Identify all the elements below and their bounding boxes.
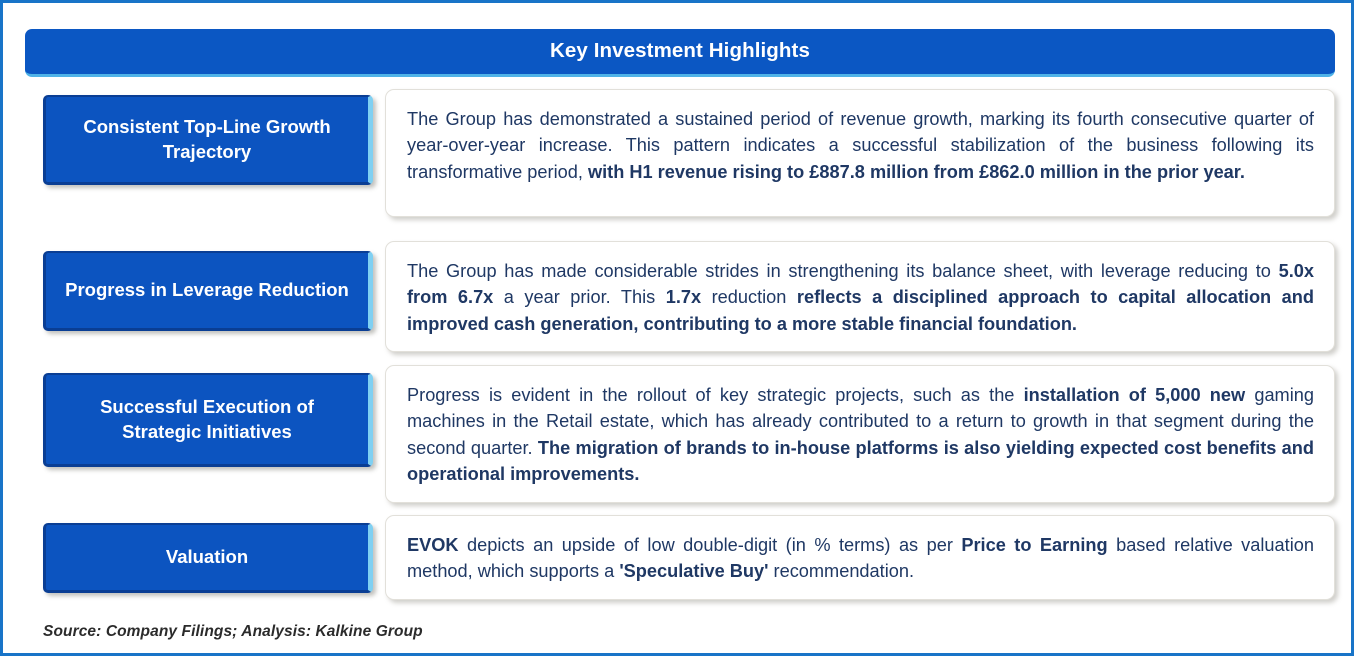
highlight-label-text: Valuation bbox=[166, 545, 248, 569]
highlight-label-text: Successful Execution of Strategic Initia… bbox=[58, 395, 356, 444]
header-banner: Key Investment Highlights bbox=[25, 29, 1335, 77]
body-run-regular: recommendation. bbox=[768, 561, 914, 581]
slide-container: Key Investment Highlights Consistent Top… bbox=[0, 0, 1354, 656]
highlight-row: Successful Execution of Strategic Initia… bbox=[3, 365, 1354, 493]
highlight-label-chip[interactable]: Consistent Top-Line Growth Trajectory bbox=[43, 95, 373, 185]
highlight-body-text: The Group has demonstrated a sustained p… bbox=[407, 106, 1314, 185]
body-run-bold: Price to Earning bbox=[961, 535, 1107, 555]
body-run-regular: depicts an upside of low double-digit (i… bbox=[459, 535, 962, 555]
highlight-label-text: Progress in Leverage Reduction bbox=[65, 278, 349, 302]
body-run-bold: 'Speculative Buy' bbox=[619, 561, 768, 581]
body-run-bold: The migration of brands to in-house plat… bbox=[407, 438, 1314, 484]
body-run-bold: with H1 revenue rising to £887.8 million… bbox=[588, 162, 1245, 182]
highlight-row: Consistent Top-Line Growth TrajectoryThe… bbox=[3, 89, 1354, 217]
source-note: Source: Company Filings; Analysis: Kalki… bbox=[43, 623, 423, 641]
highlight-text-card: Progress is evident in the rollout of ke… bbox=[385, 365, 1335, 503]
highlight-row: Progress in Leverage ReductionThe Group … bbox=[3, 241, 1354, 351]
body-run-regular: The Group has made considerable strides … bbox=[407, 261, 1279, 281]
body-run-bold: installation of 5,000 new bbox=[1024, 385, 1246, 405]
highlight-label-chip[interactable]: Progress in Leverage Reduction bbox=[43, 251, 373, 331]
page-title: Key Investment Highlights bbox=[550, 41, 810, 62]
highlight-text-card: EVOK depicts an upside of low double-dig… bbox=[385, 515, 1335, 600]
body-run-regular: reduction bbox=[701, 287, 797, 307]
body-run-bold: EVOK bbox=[407, 535, 459, 555]
highlight-row: ValuationEVOK depicts an upside of low d… bbox=[3, 515, 1354, 599]
highlight-text-card: The Group has made considerable strides … bbox=[385, 241, 1335, 352]
highlight-label-text: Consistent Top-Line Growth Trajectory bbox=[58, 115, 356, 164]
highlight-text-card: The Group has demonstrated a sustained p… bbox=[385, 89, 1335, 217]
highlight-body-text: Progress is evident in the rollout of ke… bbox=[407, 382, 1314, 488]
highlight-label-chip[interactable]: Successful Execution of Strategic Initia… bbox=[43, 373, 373, 467]
highlight-body-text: The Group has made considerable strides … bbox=[407, 258, 1314, 337]
body-run-regular: a year prior. This bbox=[493, 287, 665, 307]
body-run-regular: Progress is evident in the rollout of ke… bbox=[407, 385, 1024, 405]
highlight-label-chip[interactable]: Valuation bbox=[43, 523, 373, 593]
body-run-bold: 1.7x bbox=[666, 287, 701, 307]
highlight-body-text: EVOK depicts an upside of low double-dig… bbox=[407, 532, 1314, 585]
